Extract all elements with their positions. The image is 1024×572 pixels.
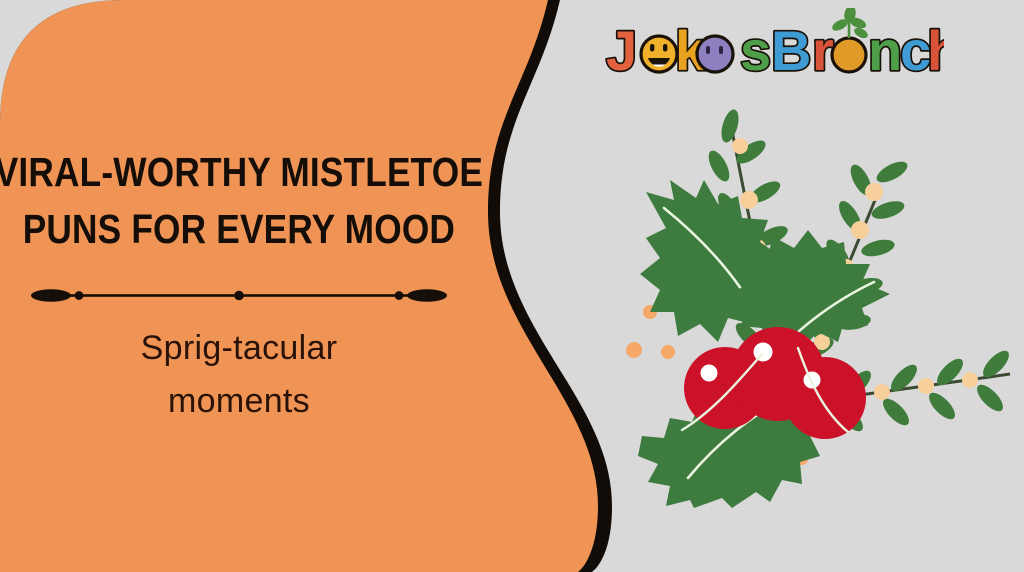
page-title-line-1: Viral-Worthy Mistletoe — [0, 144, 483, 201]
red-berry-right — [784, 357, 866, 439]
left-content-panel: Viral-Worthy Mistletoe Puns for Every Mo… — [0, 0, 470, 572]
logo-letter-B: B — [771, 19, 811, 82]
page-subtitle: Sprig-tacular moments — [141, 322, 338, 428]
page-subtitle-line-1: Sprig-tacular — [141, 322, 338, 375]
holly-mistletoe-illustration — [612, 96, 1024, 508]
sprout-leaves-icon — [830, 8, 869, 40]
logo-letter-h: h — [927, 19, 944, 82]
logo-letter-r: r — [812, 19, 834, 82]
logo-letter-n: n — [868, 19, 902, 82]
page-title-line-2: Puns for Every Mood — [0, 201, 483, 258]
logo-letter-a — [832, 38, 866, 72]
banner-canvas: Viral-Worthy Mistletoe Puns for Every Mo… — [0, 0, 1024, 572]
holly-mistletoe-art — [612, 96, 1024, 508]
ornamental-divider — [29, 280, 449, 310]
berry-highlight-left — [701, 365, 718, 382]
logo-letter-s: s — [740, 19, 771, 82]
logo-letter-o-smiley — [641, 36, 677, 72]
berry-highlight-center — [754, 343, 773, 362]
logo-letter-J: J — [606, 19, 637, 82]
logo-letter-e-face — [697, 36, 733, 72]
jokesbranch-logo[interactable]: J k s B r n c h — [600, 8, 944, 82]
jokesbranch-logo-art: J k s B r n c h — [600, 8, 944, 82]
page-subtitle-line-2: moments — [141, 375, 338, 428]
page-title: Viral-Worthy Mistletoe Puns for Every Mo… — [0, 144, 483, 258]
